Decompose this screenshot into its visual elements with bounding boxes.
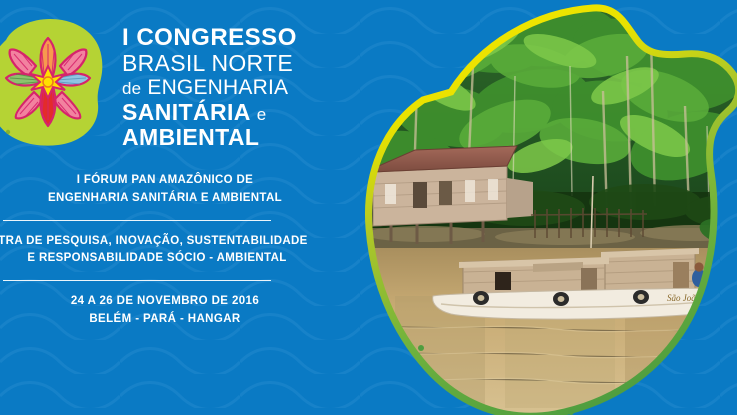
event-info-block: I FÓRUM PAN AMAZÔNICO DE ENGENHARIA SANI… bbox=[0, 172, 330, 329]
forum-line-1: I FÓRUM PAN AMAZÔNICO DE bbox=[0, 172, 330, 190]
logo-block bbox=[0, 14, 106, 150]
event-date: 24 A 26 DE NOVEMBRO DE 2016 bbox=[0, 293, 330, 311]
divider-bottom bbox=[3, 280, 271, 281]
title-de-prefix: de bbox=[122, 79, 141, 98]
divider-top bbox=[3, 220, 271, 221]
event-banner: I CONGRESSO BRASIL NORTE de ENGENHARIA S… bbox=[0, 0, 737, 415]
mostra-line-1: TRA DE PESQUISA, INOVAÇÃO, SUSTENTABILID… bbox=[0, 235, 308, 247]
mostra-heading: TRA DE PESQUISA, INOVAÇÃO, SUSTENTABILID… bbox=[0, 233, 330, 269]
title-e-conjunction: e bbox=[257, 105, 267, 124]
left-content-column: I CONGRESSO BRASIL NORTE de ENGENHARIA S… bbox=[0, 0, 370, 415]
forum-line-2: ENGENHARIA SANITÁRIA E AMBIENTAL bbox=[0, 190, 330, 208]
event-venue: BELÉM - PARÁ - HANGAR bbox=[0, 311, 330, 329]
amazon-river-photo: São João bbox=[355, 0, 737, 415]
mostra-line-2: E RESPONSABILIDADE SÓCIO - AMBIENTAL bbox=[0, 250, 330, 268]
border-notch-left bbox=[418, 345, 424, 351]
title-line-ambiental: AMBIENTAL bbox=[122, 126, 362, 149]
event-date-venue: 24 A 26 DE NOVEMBRO DE 2016 BELÉM - PARÁ… bbox=[0, 293, 330, 329]
border-notch-bottom bbox=[568, 409, 574, 415]
title-line-congresso: I CONGRESSO bbox=[122, 26, 362, 50]
page-title: I CONGRESSO BRASIL NORTE de ENGENHARIA S… bbox=[122, 26, 362, 149]
title-line-sanitaria: SANITÁRIA e bbox=[122, 101, 362, 124]
flower-icon bbox=[0, 30, 98, 134]
title-sanitaria-word: SANITÁRIA bbox=[122, 99, 250, 125]
title-line-engenharia: de ENGENHARIA bbox=[122, 77, 362, 98]
title-engenharia-word: ENGENHARIA bbox=[147, 76, 288, 99]
forum-heading: I FÓRUM PAN AMAZÔNICO DE ENGENHARIA SANI… bbox=[0, 172, 330, 208]
title-line-brasil-norte: BRASIL NORTE bbox=[122, 52, 362, 75]
